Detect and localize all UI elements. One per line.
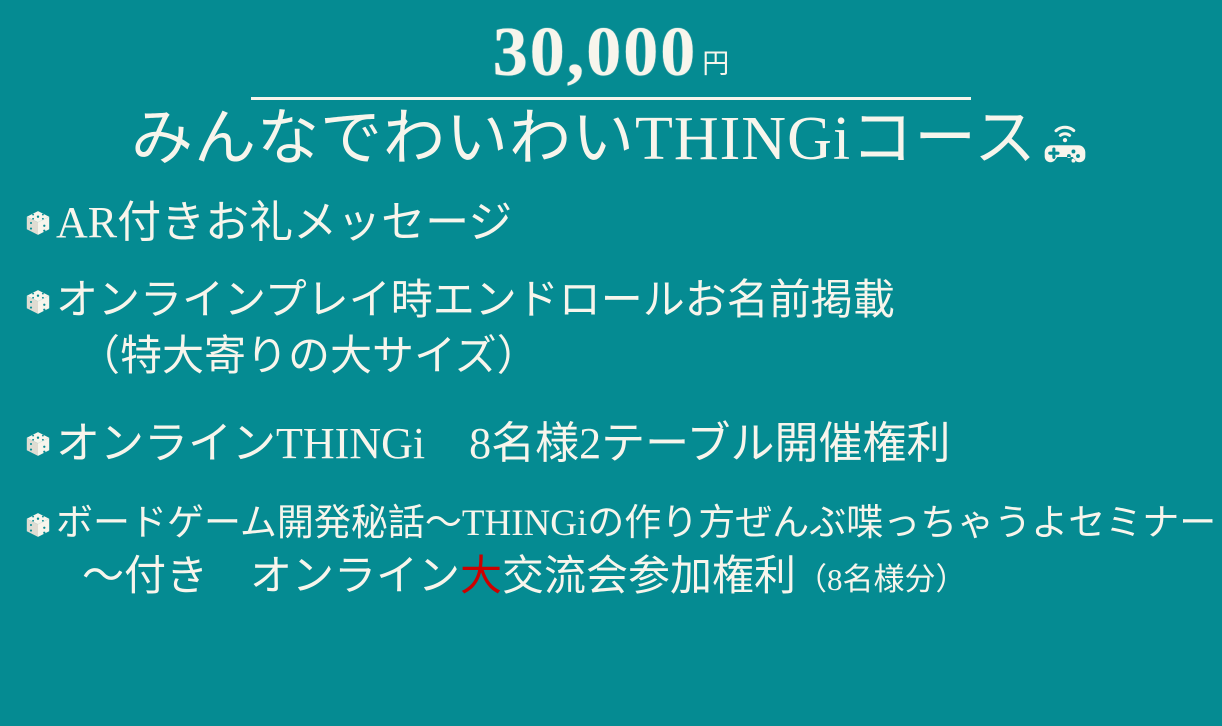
benefit-line: ボードゲーム開発秘話〜THINGiの作り方ぜんぶ喋っちゃうよセミナー <box>56 499 1216 549</box>
benefit-final-prefix: 〜付き オンライン <box>82 554 460 600</box>
list-item: オンラインTHINGi 8名様2テーブル開催権利 <box>24 415 1212 473</box>
course-title-row: みんなでわいわいTHINGiコース <box>0 107 1222 172</box>
price-currency-unit: 円 <box>702 51 729 78</box>
price-row: 30,000 円 <box>0 18 1222 88</box>
benefit-line: （特大寄りの大サイズ） <box>56 330 895 385</box>
header-divider <box>251 97 971 100</box>
dice-icon <box>24 209 52 237</box>
benefit-text: オンラインTHINGi 8名様2テーブル開催権利 <box>56 415 950 473</box>
dice-icon <box>24 511 52 539</box>
benefit-final-line: 〜付き オンライン大交流会参加権利（8名様分） <box>56 549 1216 605</box>
poster-header: 30,000 円 みんなでわいわいTHINGiコース <box>0 0 1222 172</box>
benefit-line: オンラインプレイ時エンドロールお名前掲載 <box>56 274 895 329</box>
benefit-text: オンラインプレイ時エンドロールお名前掲載 （特大寄りの大サイズ） <box>56 274 895 385</box>
benefit-final-note: （8名様分） <box>796 562 967 597</box>
benefit-line: オンラインTHINGi 8名様2テーブル開催権利 <box>56 415 950 473</box>
benefit-final-suffix: 交流会参加権利 <box>502 554 796 600</box>
list-item: オンラインプレイ時エンドロールお名前掲載 （特大寄りの大サイズ） <box>24 274 1212 385</box>
wireless-gamepad-icon <box>1039 118 1091 170</box>
price-amount: 30,000 <box>493 18 698 88</box>
benefit-line: AR付きお礼メッセージ <box>56 194 512 252</box>
benefit-text: AR付きお礼メッセージ <box>56 194 512 252</box>
benefit-list: AR付きお礼メッセージ <box>0 194 1222 605</box>
dice-icon <box>24 430 52 458</box>
course-poster: 30,000 円 みんなでわいわいTHINGiコース <box>0 0 1222 726</box>
list-item: ボードゲーム開発秘話〜THINGiの作り方ぜんぶ喋っちゃうよセミナー 〜付き オ… <box>24 499 1212 605</box>
dice-icon <box>24 288 52 316</box>
list-item: AR付きお礼メッセージ <box>24 194 1212 252</box>
course-title: みんなでわいわいTHINGiコース <box>131 107 1037 172</box>
benefit-highlight-char: 大 <box>460 554 502 600</box>
benefit-text: ボードゲーム開発秘話〜THINGiの作り方ぜんぶ喋っちゃうよセミナー 〜付き オ… <box>56 499 1216 605</box>
